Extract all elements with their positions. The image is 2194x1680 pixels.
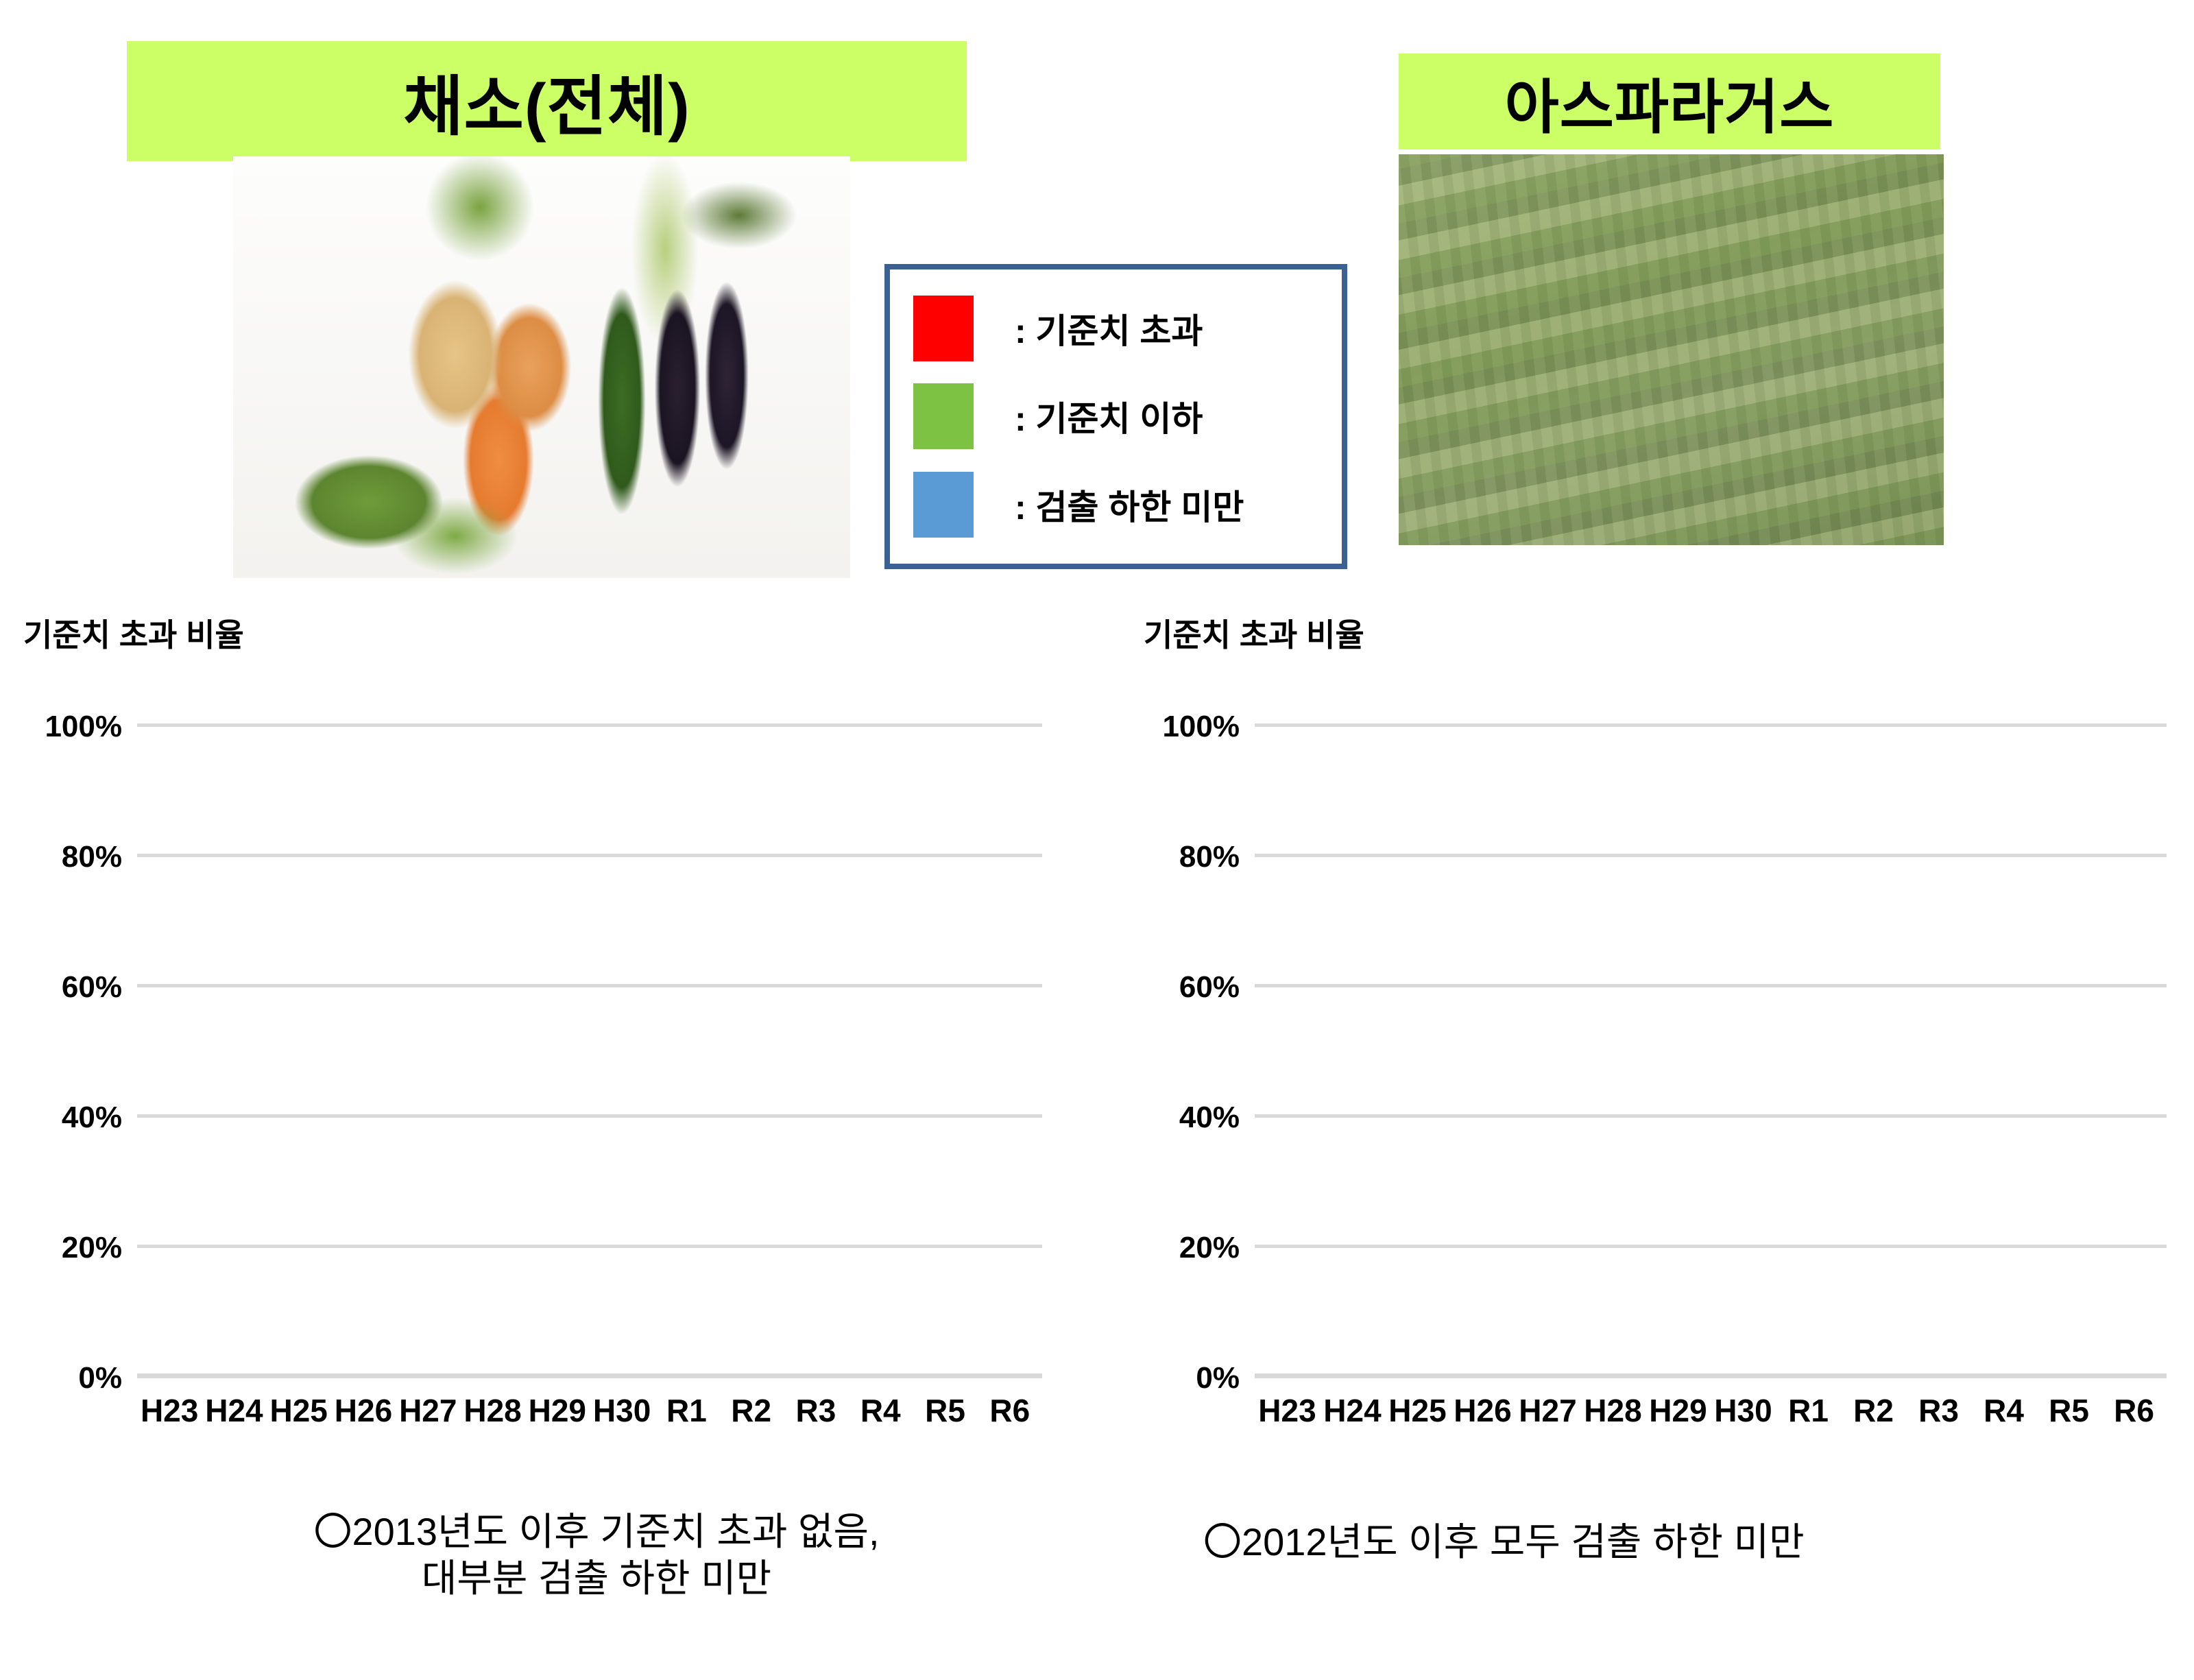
x-tick-label: R1: [1776, 1392, 1841, 1429]
y-tick-label: 80%: [1179, 840, 1240, 874]
x-tick-label: R3: [784, 1392, 848, 1429]
vegetables-summary-note: 〇2013년도 이후 기준치 초과 없음, 대부분 검출 하한 미만: [165, 1509, 1028, 1603]
bar-cell: [202, 727, 266, 1378]
vegetables-x-labels: H23H24H25H26H27H28H29H30R1R2R3R4R5R6: [137, 1392, 1042, 1429]
vegetables-plot-area: 0%20%40%60%80%100%: [137, 727, 1042, 1378]
x-tick-label: H25: [1385, 1392, 1450, 1429]
vegetables-bars: [137, 727, 1042, 1378]
asparagus-photo: [1399, 154, 1944, 545]
bar-cell: [267, 727, 331, 1378]
x-tick-label: R5: [2036, 1392, 2101, 1429]
bar-cell: [460, 727, 525, 1378]
x-tick-label: H30: [590, 1392, 654, 1429]
bar-cell: [719, 727, 784, 1378]
bar-cell: [1450, 727, 1515, 1378]
x-tick-label: R4: [848, 1392, 913, 1429]
asparagus-image: [1399, 154, 1944, 545]
x-tick-label: R1: [654, 1392, 719, 1429]
y-tick-label: 0%: [1196, 1361, 1240, 1395]
bar-cell: [137, 727, 202, 1378]
bar-cell: [784, 727, 848, 1378]
x-tick-label: H25: [267, 1392, 331, 1429]
legend-item-over-limit: : 기준치 초과: [913, 290, 1342, 367]
x-tick-label: H30: [1711, 1392, 1776, 1429]
bar-cell: [396, 727, 460, 1378]
vegetables-x-axis: [137, 1373, 1042, 1378]
bar-cell: [1841, 727, 1906, 1378]
x-tick-label: R5: [913, 1392, 977, 1429]
mixed-vegetables-photo: [233, 156, 850, 578]
bar-cell: [1515, 727, 1580, 1378]
x-tick-label: H23: [1255, 1392, 1320, 1429]
x-tick-label: H26: [331, 1392, 396, 1429]
bar-cell: [331, 727, 396, 1378]
y-tick-label: 60%: [1179, 970, 1240, 1005]
bar-cell: [2036, 727, 2101, 1378]
x-tick-label: H28: [460, 1392, 525, 1429]
y-tick-label: 100%: [1162, 710, 1240, 744]
chart-legend: : 기준치 초과 : 기준치 이하 : 검출 하한 미만: [884, 264, 1347, 569]
asparagus-summary-note: 〇2012년도 이후 모두 검출 하한 미만: [1203, 1519, 2163, 1565]
bar-cell: [654, 727, 719, 1378]
x-tick-label: R2: [719, 1392, 784, 1429]
y-tick-label: 20%: [62, 1231, 122, 1265]
y-tick-label: 60%: [62, 970, 122, 1005]
bar-cell: [1906, 727, 1971, 1378]
bar-cell: [1385, 727, 1450, 1378]
bar-cell: [978, 727, 1042, 1378]
legend-label-below-detection: : 검출 하한 미만: [1015, 480, 1244, 529]
legend-item-under-limit: : 기준치 이하: [913, 378, 1342, 455]
y-tick-label: 40%: [62, 1101, 122, 1135]
x-tick-label: R6: [978, 1392, 1042, 1429]
vegetables-title-banner: 채소(전체): [127, 41, 967, 161]
asparagus-x-axis: [1255, 1373, 2167, 1378]
legend-swatch-red-icon: [913, 296, 974, 361]
x-tick-label: R2: [1841, 1392, 1906, 1429]
asparagus-bars: [1255, 727, 2167, 1378]
x-tick-label: H29: [525, 1392, 590, 1429]
x-tick-label: R3: [1906, 1392, 1971, 1429]
bar-cell: [913, 727, 977, 1378]
x-tick-label: R4: [1971, 1392, 2036, 1429]
legend-swatch-blue-icon: [913, 472, 974, 538]
bar-cell: [2101, 727, 2167, 1378]
legend-swatch-green-icon: [913, 383, 974, 449]
bar-cell: [1971, 727, 2036, 1378]
asparagus-title-text: 아스파라거스: [1505, 59, 1835, 145]
bar-cell: [1711, 727, 1776, 1378]
bar-cell: [1580, 727, 1645, 1378]
legend-item-below-detection: : 검출 하한 미만: [913, 466, 1342, 543]
y-tick-label: 80%: [62, 840, 122, 874]
vegetables-axis-caption: 기준치 초과 비율: [23, 610, 244, 656]
asparagus-x-labels: H23H24H25H26H27H28H29H30R1R2R3R4R5R6: [1255, 1392, 2167, 1429]
asparagus-plot-area: 0%20%40%60%80%100%: [1255, 727, 2167, 1378]
bar-cell: [848, 727, 913, 1378]
asparagus-axis-caption: 기준치 초과 비율: [1144, 610, 1364, 656]
y-tick-label: 0%: [78, 1361, 122, 1395]
legend-label-under-limit: : 기준치 이하: [1015, 392, 1203, 441]
bar-cell: [1776, 727, 1841, 1378]
x-tick-label: H28: [1580, 1392, 1645, 1429]
bar-cell: [590, 727, 654, 1378]
x-tick-label: H27: [1515, 1392, 1580, 1429]
legend-label-over-limit: : 기준치 초과: [1015, 304, 1203, 353]
mixed-vegetables-image: [233, 156, 850, 578]
x-tick-label: H24: [1320, 1392, 1385, 1429]
vegetables-title-text: 채소(전체): [403, 54, 690, 148]
y-tick-label: 100%: [45, 710, 122, 744]
x-tick-label: R6: [2101, 1392, 2167, 1429]
x-tick-label: H26: [1450, 1392, 1515, 1429]
x-tick-label: H24: [202, 1392, 266, 1429]
bar-cell: [1255, 727, 1320, 1378]
bar-cell: [1645, 727, 1711, 1378]
bar-cell: [1320, 727, 1385, 1378]
y-tick-label: 20%: [1179, 1231, 1240, 1265]
x-tick-label: H29: [1645, 1392, 1711, 1429]
bar-cell: [525, 727, 590, 1378]
asparagus-title-banner: 아스파라거스: [1399, 53, 1940, 149]
x-tick-label: H23: [137, 1392, 202, 1429]
slide-root: 채소(전체) 아스파라거스 : 기준치 초과 : 기준치 이하 : 검출 하한 …: [0, 0, 2194, 1680]
y-tick-label: 40%: [1179, 1101, 1240, 1135]
x-tick-label: H27: [396, 1392, 460, 1429]
